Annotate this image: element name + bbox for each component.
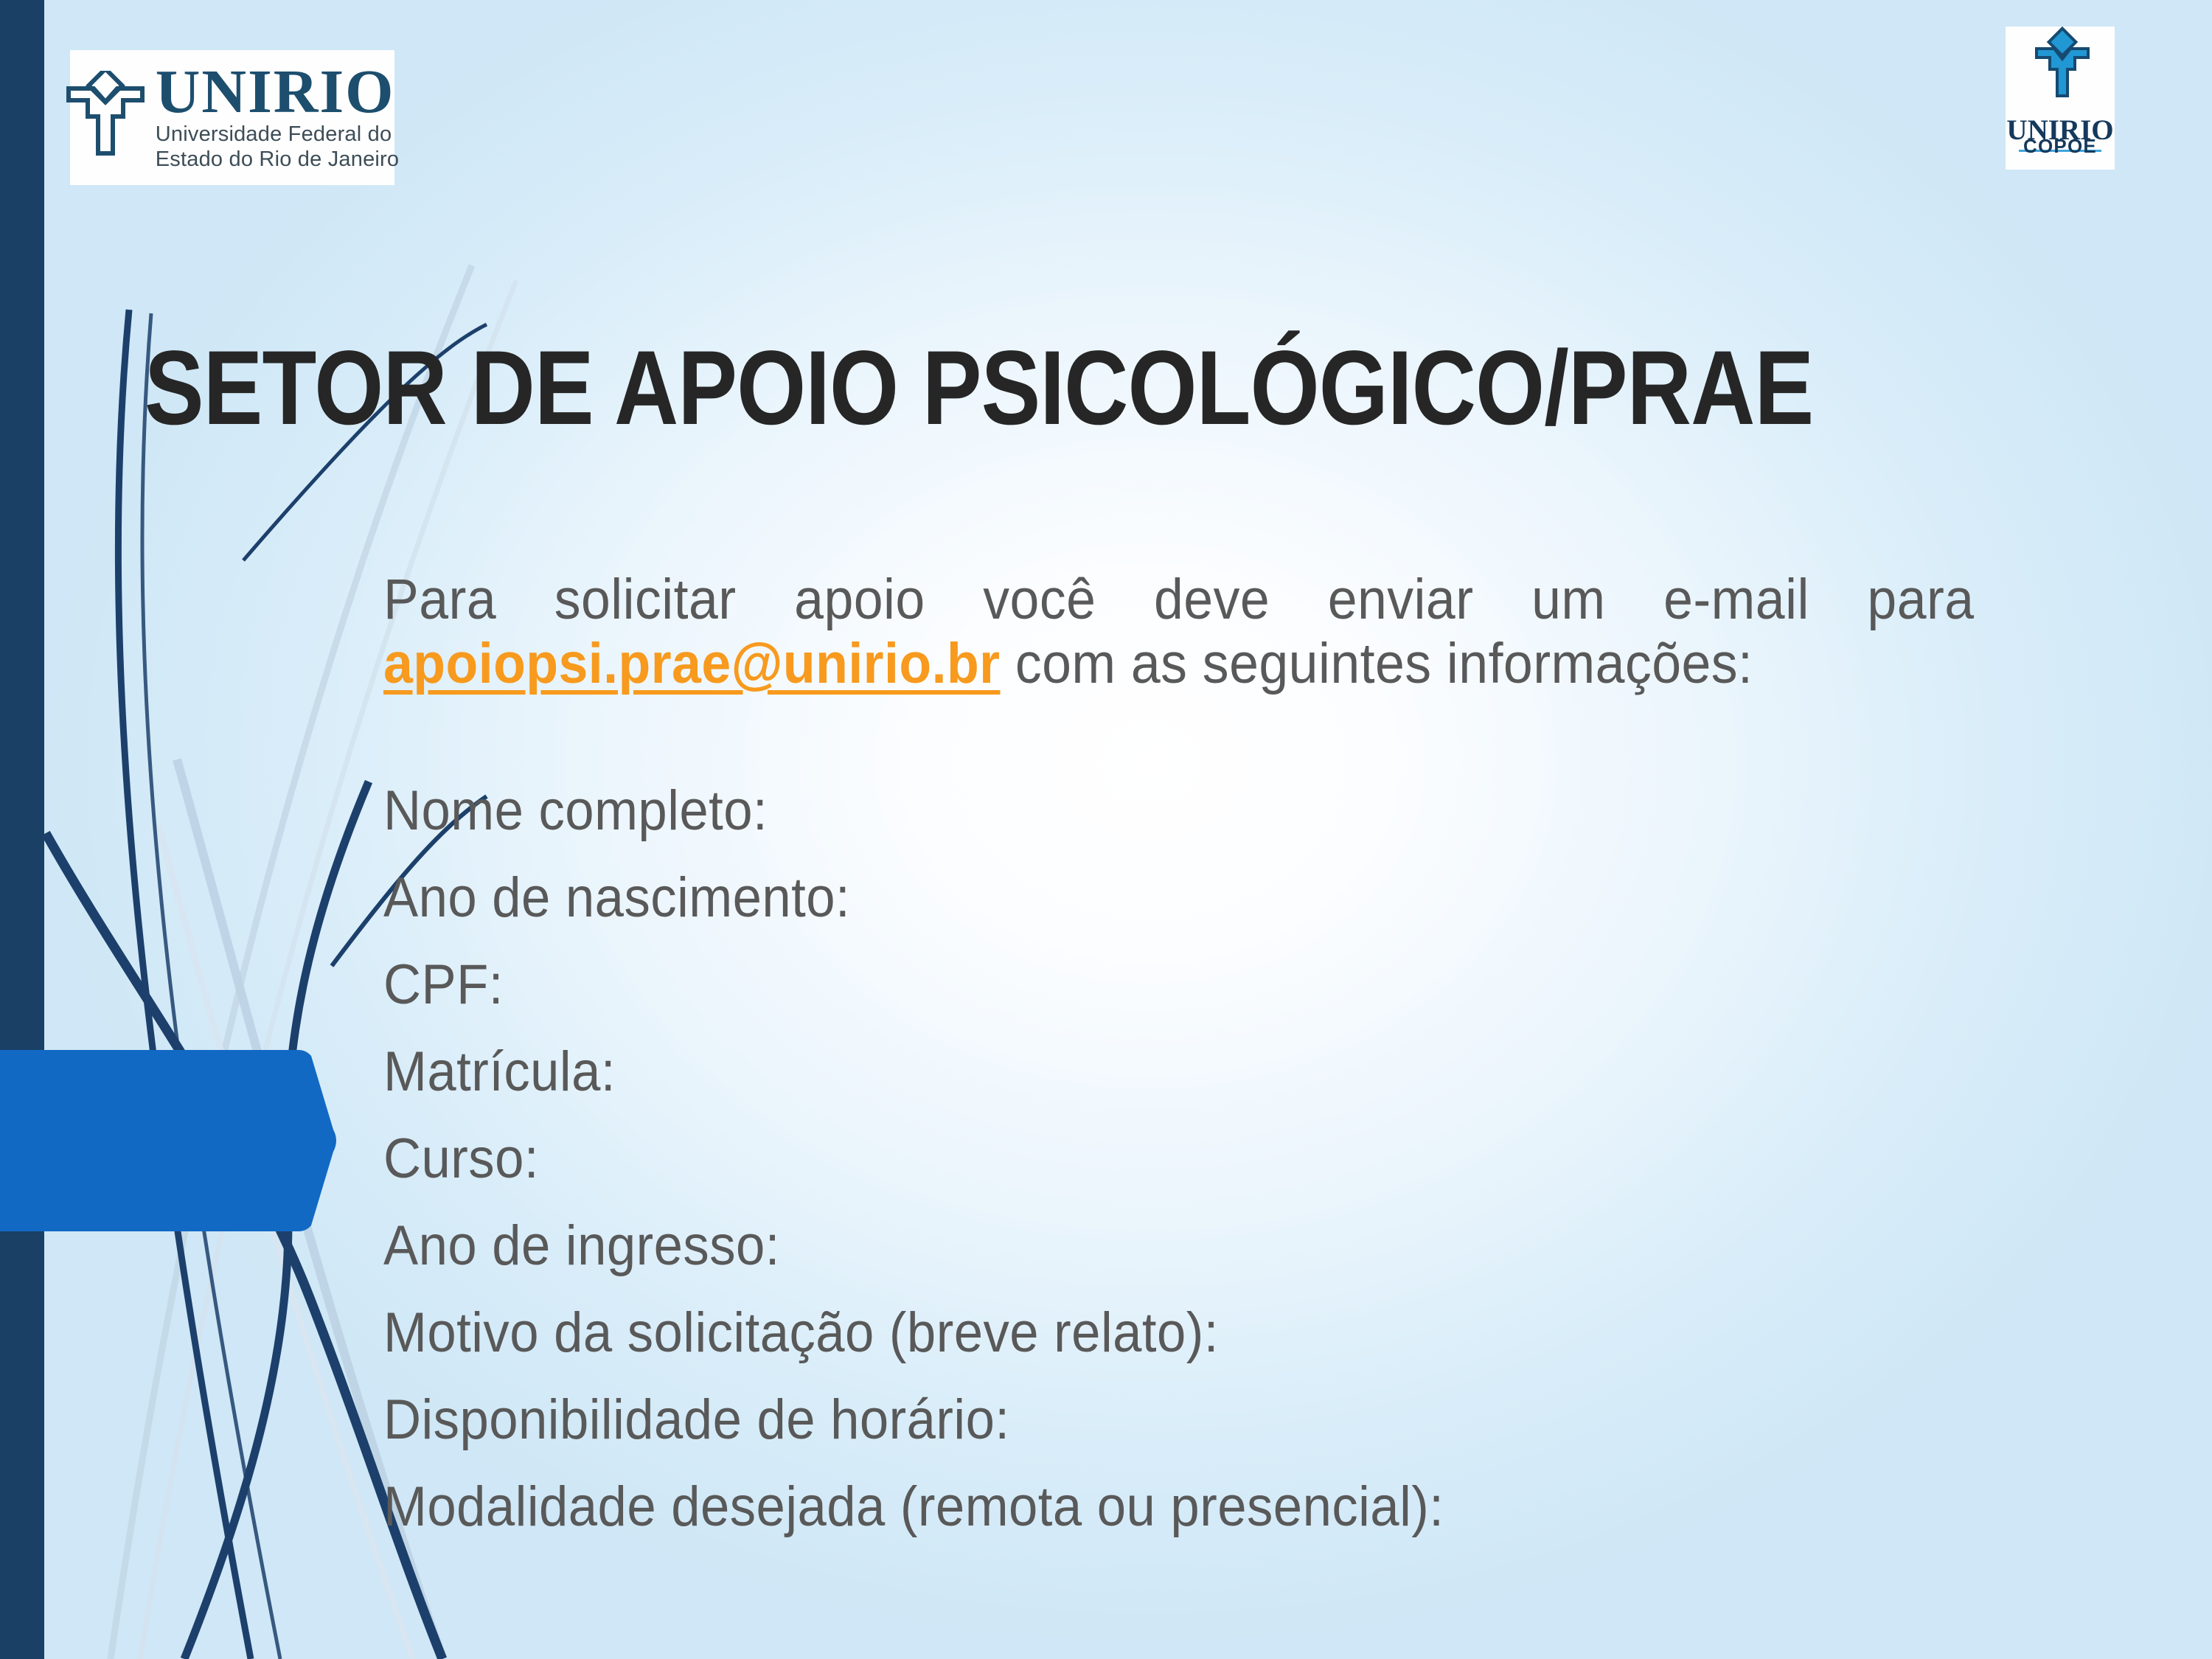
intro-paragraph: Para solicitar apoio você deve enviar um… bbox=[383, 568, 1975, 696]
slide-canvas: UNIRIO Universidade Federal do Estado do… bbox=[0, 0, 2212, 1659]
logo-copoe: UNIRIO COPOE bbox=[2006, 27, 2115, 170]
list-item: CPF: bbox=[383, 957, 1975, 1013]
intro-before-email: Para solicitar apoio você deve enviar um… bbox=[383, 568, 1975, 631]
list-item: Matrícula: bbox=[383, 1044, 1975, 1100]
list-item: Ano de nascimento: bbox=[383, 870, 1975, 926]
logo-unirio-line1: Universidade Federal do bbox=[156, 122, 399, 147]
list-item: Modalidade desejada (remota ou presencia… bbox=[383, 1479, 1975, 1535]
unirio-mark-icon bbox=[66, 71, 145, 165]
requested-fields-list: Nome completo: Ano de nascimento: CPF: M… bbox=[383, 783, 1975, 1535]
slide-body: Para solicitar apoio você deve enviar um… bbox=[383, 568, 2013, 1566]
logo-copoe-unit: COPOE bbox=[2006, 135, 2115, 158]
left-accent-bar bbox=[0, 0, 44, 1659]
logo-unirio-name: UNIRIO bbox=[156, 63, 399, 122]
list-item: Curso: bbox=[383, 1131, 1975, 1187]
unirio-copoe-mark-icon bbox=[2006, 27, 2115, 114]
list-item: Ano de ingresso: bbox=[383, 1218, 1975, 1274]
list-item: Disponibilidade de horário: bbox=[383, 1392, 1975, 1448]
list-item: Nome completo: bbox=[383, 783, 1975, 839]
page-title: SETOR DE APOIO PSICOLÓGICO/PRAE bbox=[145, 335, 1851, 441]
logo-unirio: UNIRIO Universidade Federal do Estado do… bbox=[70, 50, 394, 185]
email-link[interactable]: apoiopsi.prae@unirio.br bbox=[383, 632, 1000, 695]
blue-arrow-banner bbox=[0, 1046, 339, 1236]
list-item: Motivo da solicitação (breve relato): bbox=[383, 1305, 1975, 1361]
logo-unirio-line2: Estado do Rio de Janeiro bbox=[156, 147, 399, 172]
intro-after-email: com as seguintes informações: bbox=[1000, 632, 1753, 695]
